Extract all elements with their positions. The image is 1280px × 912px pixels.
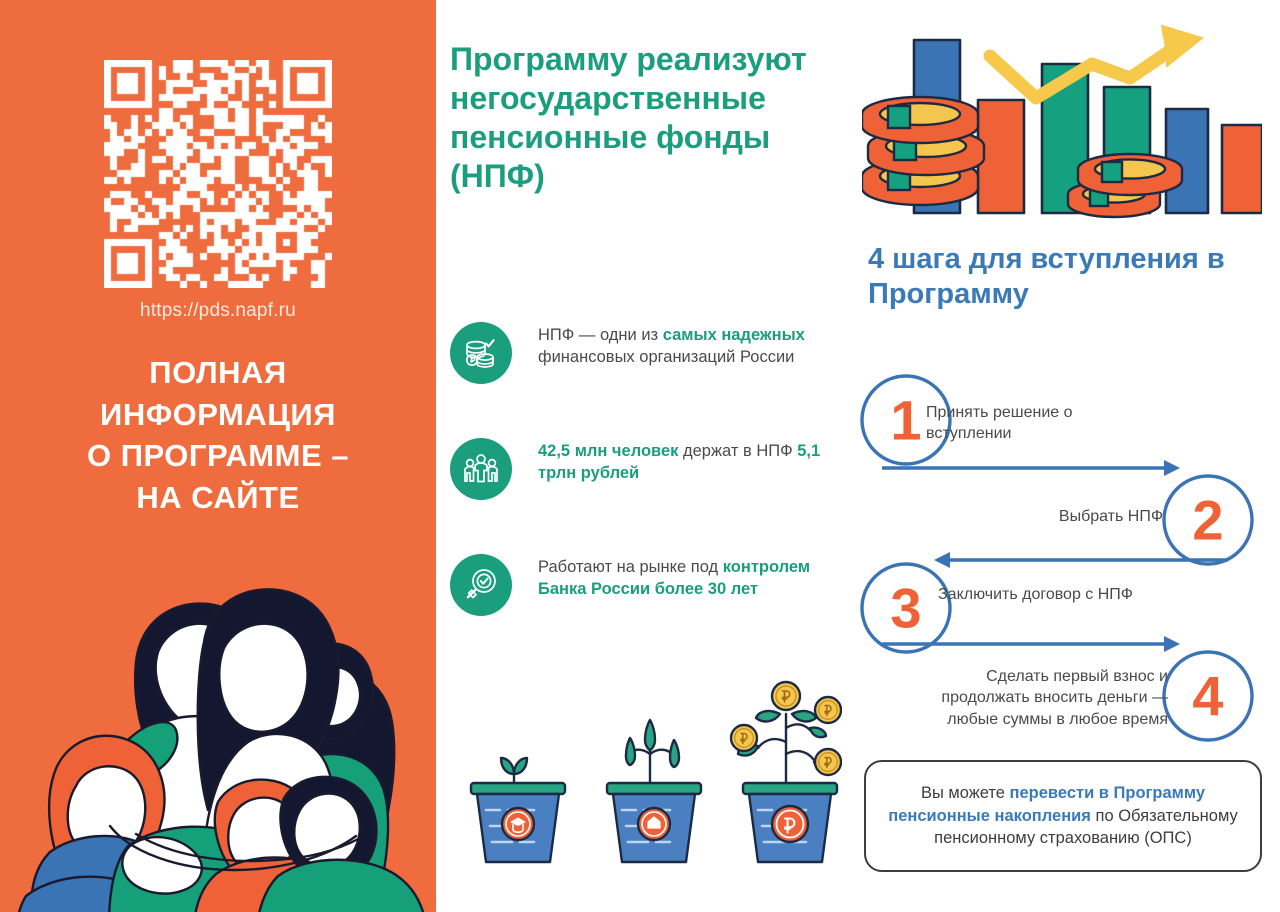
coins-check-icon [450, 322, 512, 384]
middle-column: Программу реализуют негосударственные пе… [436, 0, 848, 912]
growing-plants-illustration [446, 658, 842, 908]
page-title: ПОЛНАЯ ИНФОРМАЦИЯ О ПРОГРАММЕ – НА САЙТЕ [18, 352, 418, 518]
page-title-line: ИНФОРМАЦИЯ [18, 394, 418, 436]
fact-item: 42,5 млн человек держат в НПФ 5,1 трлн р… [450, 438, 850, 516]
note-box: Вы можете перевести в Программу пенсионн… [864, 760, 1262, 872]
svg-text:4: 4 [1192, 665, 1223, 728]
group-hug-illustration [18, 556, 436, 912]
middle-heading: Программу реализуют негосударственные пе… [450, 40, 845, 196]
step-label-3: Заключить договор с НПФ [938, 584, 1138, 605]
left-orange-panel: https://pds.napf.ru ПОЛНАЯ ИНФОРМАЦИЯ О … [0, 0, 436, 912]
svg-text:3: 3 [890, 577, 921, 640]
page-title-line: НА САЙТЕ [18, 477, 418, 519]
step-label-2: Выбрать НПФ [908, 506, 1163, 527]
fact-item: Работают на рынке под контролем Банка Ро… [450, 554, 850, 632]
fact-text: Работают на рынке под контролем Банка Ро… [538, 554, 850, 601]
fact-text: НПФ — одни из самых надежных финансовых … [538, 322, 850, 369]
qr-code-icon[interactable] [104, 60, 332, 288]
magnifier-check-icon [450, 554, 512, 616]
page-title-line: ПОЛНАЯ [18, 352, 418, 394]
fact-text: 42,5 млн человек держат в НПФ 5,1 трлн р… [538, 438, 850, 485]
people-group-icon [450, 438, 512, 500]
infographic-page: https://pds.napf.ru ПОЛНАЯ ИНФОРМАЦИЯ О … [0, 0, 1280, 912]
facts-list: НПФ — одни из самых надежных финансовых … [450, 322, 850, 670]
step-label-4: Сделать первый взнос и продолжать вносит… [900, 666, 1168, 730]
fact-item: НПФ — одни из самых надежных финансовых … [450, 322, 850, 400]
svg-text:2: 2 [1192, 489, 1223, 552]
page-title-line: О ПРОГРАММЕ – [18, 435, 418, 477]
steps-heading: 4 шага для вступления в Программу [868, 242, 1268, 313]
svg-text:1: 1 [890, 389, 921, 452]
growth-chart-illustration [862, 18, 1262, 230]
note-text: Вы можете перевести в Программу пенсионн… [866, 782, 1260, 849]
step-label-1: Принять решение о вступлении [926, 402, 1126, 445]
right-column: 4 шага для вступления в Программу [848, 0, 1280, 912]
steps-diagram: 1 2 3 4 Принять решение о вступлении Выб… [848, 372, 1280, 752]
site-url-label: https://pds.napf.ru [0, 300, 436, 322]
